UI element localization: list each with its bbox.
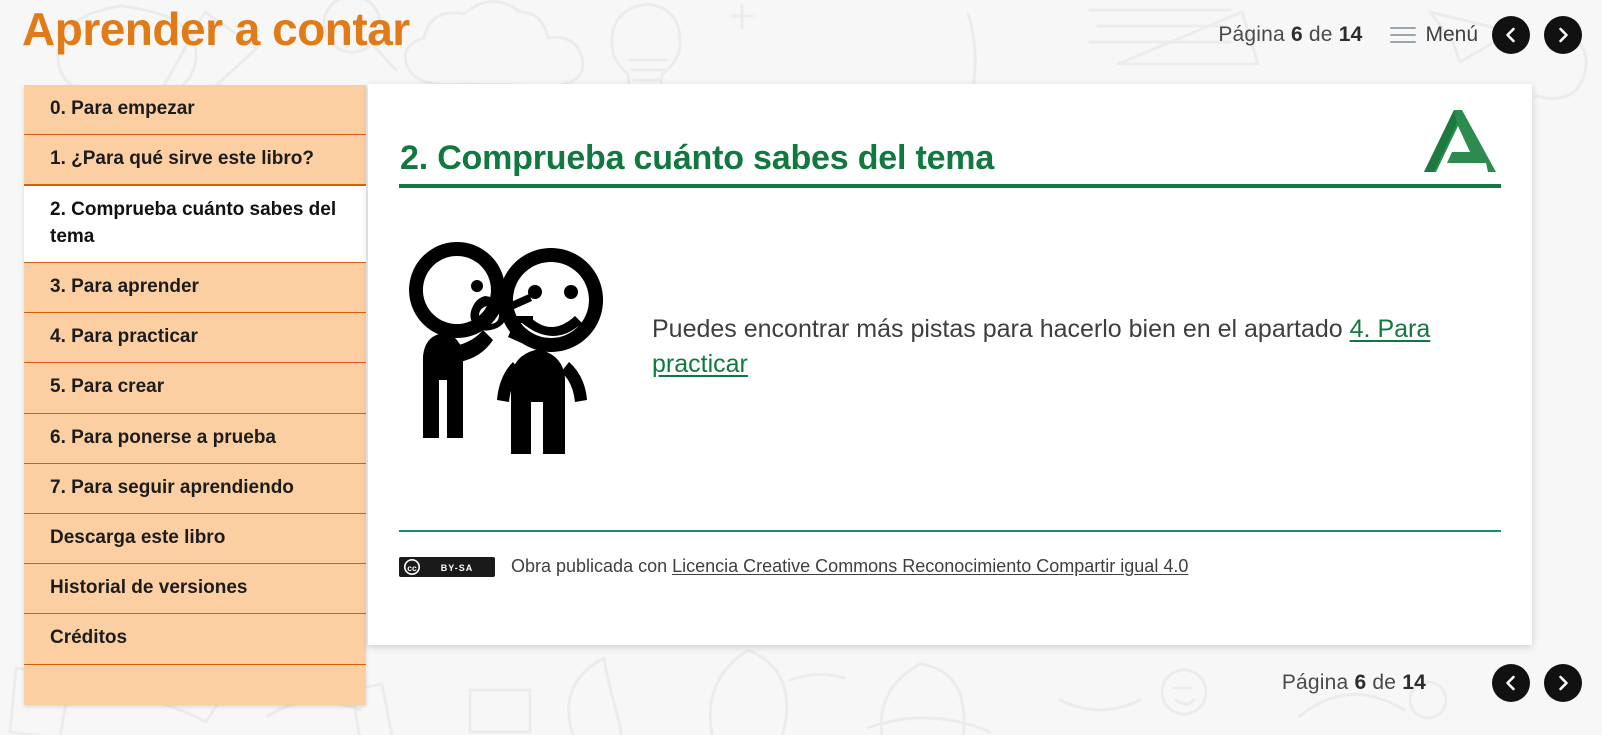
footer-pagination: Página 6 de 14 — [1282, 664, 1582, 702]
sidebar-item-label: 3. Para aprender — [50, 276, 199, 297]
sidebar-item-label: 1. ¿Para qué sirve este libro? — [50, 148, 314, 169]
sidebar-item-3[interactable]: 3. Para aprender — [24, 263, 366, 313]
license-link[interactable]: Licencia Creative Commons Reconocimiento… — [672, 556, 1188, 576]
content-body: Puedes encontrar más pistas para hacerlo… — [399, 234, 1501, 459]
previous-page-button-footer[interactable] — [1492, 664, 1530, 702]
sidebar-item-label: 4. Para practicar — [50, 326, 198, 347]
body-paragraph: Puedes encontrar más pistas para hacerlo… — [634, 312, 1501, 382]
sidebar-item-label: Historial de versiones — [50, 577, 247, 598]
sidebar-item-2[interactable]: 2. Comprueba cuánto sabes del tema — [24, 185, 366, 262]
svg-text:BY-SA: BY-SA — [441, 563, 474, 573]
license-text-lead: Obra publicada con — [511, 556, 672, 576]
sidebar-item-5[interactable]: 5. Para crear — [24, 363, 366, 413]
site-title: Aprender a contar — [22, 2, 410, 56]
sidebar-item-label: 7. Para seguir aprendiendo — [50, 477, 294, 498]
sidebar-item-4[interactable]: 4. Para practicar — [24, 313, 366, 363]
sidebar-item-10[interactable]: Créditos — [24, 614, 366, 664]
sidebar-item-8[interactable]: Descarga este libro — [24, 514, 366, 564]
sidebar-item-9[interactable]: Historial de versiones — [24, 564, 366, 614]
page-total-value: 14 — [1402, 671, 1426, 694]
sidebar-item-1[interactable]: 1. ¿Para qué sirve este libro? — [24, 135, 366, 185]
sidebar-item-7[interactable]: 7. Para seguir aprendiendo — [24, 464, 366, 514]
sidebar-item-label: 5. Para crear — [50, 376, 164, 397]
page-header: Aprender a contar — [0, 0, 1602, 74]
license-divider — [399, 530, 1501, 532]
page-middle-label: de — [1372, 671, 1396, 694]
sidebar-item-label: Créditos — [50, 627, 127, 648]
license-text: Obra publicada con Licencia Creative Com… — [511, 556, 1188, 577]
content-card: 2. Comprueba cuánto sabes del tema — [368, 84, 1532, 645]
junta-de-andalucia-logo — [1414, 108, 1498, 174]
page-current-value: 6 — [1354, 671, 1366, 694]
sidebar-item-label: 0. Para empezar — [50, 98, 195, 119]
heading-divider — [399, 184, 1501, 188]
sidebar-item-label: 2. Comprueba cuánto sabes del tema — [50, 199, 336, 246]
page-title: 2. Comprueba cuánto sabes del tema — [400, 139, 994, 178]
svg-text:cc: cc — [407, 563, 417, 573]
sidebar-item-6[interactable]: 6. Para ponerse a prueba — [24, 414, 366, 464]
chevron-left-icon — [1501, 673, 1521, 693]
chevron-right-icon — [1553, 673, 1573, 693]
body-text-lead: Puedes encontrar más pistas para hacerlo… — [652, 315, 1350, 343]
sidebar-item-0[interactable]: 0. Para empezar — [24, 85, 366, 135]
next-page-button-footer[interactable] — [1544, 664, 1582, 702]
sidebar-item-label: Descarga este libro — [50, 527, 225, 548]
license-row: cc BY-SA Obra publicada con Licencia Cre… — [399, 556, 1188, 577]
page-prefix-label: Página — [1282, 671, 1349, 694]
two-people-whispering-pictogram — [399, 234, 634, 459]
creative-commons-by-sa-badge[interactable]: cc BY-SA — [399, 557, 495, 577]
sidebar-navigation: 0. Para empezar 1. ¿Para qué sirve este … — [24, 85, 366, 705]
footer-page-indicator: Página 6 de 14 — [1282, 671, 1426, 695]
sidebar-item-label: 6. Para ponerse a prueba — [50, 427, 276, 448]
